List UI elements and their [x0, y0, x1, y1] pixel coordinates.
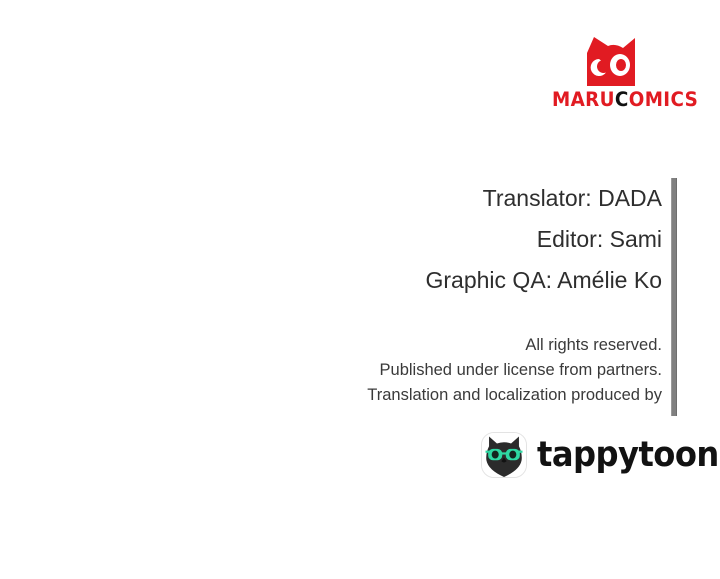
rights-line-reserved: All rights reserved. [192, 333, 662, 358]
credit-line-graphic-qa: Graphic QA: Amélie Ko [232, 260, 662, 301]
rights-line-license: Published under license from partners. [192, 358, 662, 383]
rights-line-produced-by: Translation and localization produced by [192, 383, 662, 408]
tappytoon-logo: tappytoon [481, 430, 676, 480]
wordmark-part-maru: MARU [552, 88, 615, 111]
cat-with-glasses-icon [481, 432, 527, 478]
credit-line-editor: Editor: Sami [232, 219, 662, 260]
credits-page: MARUCOMICS Translator: DADA Editor: Sami… [0, 0, 720, 579]
rights-block: All rights reserved. Published under lic… [192, 333, 662, 408]
wordmark-part-c: C [615, 88, 629, 111]
credit-line-translator: Translator: DADA [232, 178, 662, 219]
publisher-wordmark: MARUCOMICS [552, 88, 676, 112]
owl-mark-icon [584, 36, 638, 88]
vertical-scrollbar[interactable] [671, 178, 677, 416]
credits-block: Translator: DADA Editor: Sami Graphic QA… [232, 178, 662, 301]
wordmark-part-omics: OMICS [629, 88, 699, 111]
publisher-logo: MARUCOMICS [548, 36, 680, 118]
tappytoon-wordmark: tappytoon [537, 430, 719, 480]
